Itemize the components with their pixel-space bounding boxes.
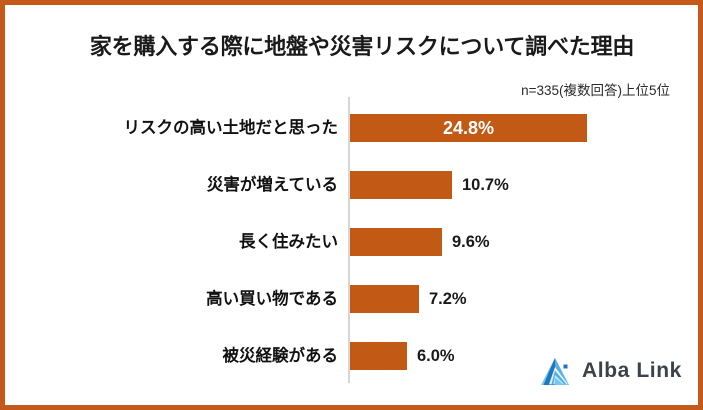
bar-row: リスクの高い土地だと思った24.8%	[5, 114, 698, 142]
bar[interactable]	[350, 171, 452, 199]
bar-value-label: 10.7%	[462, 171, 509, 199]
chart-title: 家を購入する際に地盤や災害リスクについて調べた理由	[67, 29, 657, 61]
bar-category-label: 災害が増えている	[207, 171, 338, 199]
bar[interactable]	[350, 342, 407, 370]
bar-track: 6.0%	[350, 342, 407, 370]
bar-category-label: 長く住みたい	[239, 228, 338, 256]
bar-value-label: 24.8%	[350, 114, 587, 142]
chart-slide: 家を購入する際に地盤や災害リスクについて調べた理由 n=335(複数回答)上位5…	[0, 0, 703, 410]
bar[interactable]	[350, 285, 419, 313]
bar-track: 7.2%	[350, 285, 419, 313]
bar-category-label: 高い買い物である	[206, 285, 338, 313]
bar[interactable]	[350, 228, 442, 256]
alba-link-logo: Alba Link	[539, 355, 682, 387]
bar-category-label: リスクの高い土地だと思った	[124, 114, 339, 142]
bar-value-label: 6.0%	[417, 342, 455, 370]
plot-area: リスクの高い土地だと思った24.8%災害が増えている10.7%長く住みたい9.6…	[5, 97, 698, 387]
bar-track: 9.6%	[350, 228, 442, 256]
alba-link-logo-text: Alba Link	[582, 359, 682, 383]
bar-value-label: 9.6%	[452, 228, 490, 256]
alba-link-triangle-icon	[539, 355, 573, 387]
chart-subtitle-sample-size: n=335(複数回答)上位5位	[521, 79, 670, 99]
bar-value-label: 7.2%	[429, 285, 467, 313]
bar-row: 長く住みたい9.6%	[5, 228, 698, 256]
chart-canvas: 家を購入する際に地盤や災害リスクについて調べた理由 n=335(複数回答)上位5…	[5, 5, 698, 405]
bar-row: 災害が増えている10.7%	[5, 171, 698, 199]
bar-track: 24.8%	[350, 114, 587, 142]
bar-row: 高い買い物である7.2%	[5, 285, 698, 313]
bar-category-label: 被災経験がある	[223, 342, 339, 370]
bar-track: 10.7%	[350, 171, 452, 199]
